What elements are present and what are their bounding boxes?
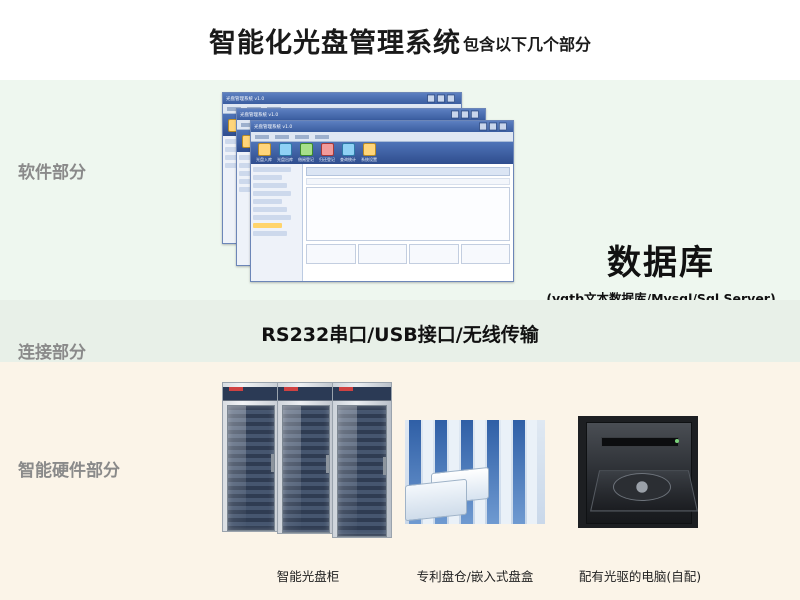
image-smart-disc-cabinet bbox=[222, 382, 394, 540]
cabinet-indicator bbox=[284, 387, 298, 391]
panel-cell bbox=[306, 244, 356, 264]
window-toolbar: 光盘入库 光盘出库 借阅登记 归还登记 bbox=[251, 142, 513, 164]
window-controls bbox=[451, 110, 479, 118]
toolbar-button-settings[interactable]: 系统设置 bbox=[361, 143, 377, 163]
window-titlebar: 光盘管理系统 v1.0 bbox=[251, 121, 513, 132]
window-titlebar: 光盘管理系统 v1.0 bbox=[237, 109, 485, 120]
toolbar-button-return[interactable]: 归还登记 bbox=[319, 143, 335, 163]
title-sub-text: 包含以下几个部分 bbox=[463, 31, 591, 55]
toolbar-label: 光盘出库 bbox=[277, 157, 293, 163]
toolbar-label: 归还登记 bbox=[319, 157, 335, 163]
panel-cell bbox=[409, 244, 459, 264]
toolbar-button-borrow[interactable]: 借阅登记 bbox=[298, 143, 314, 163]
database-title: 数据库 bbox=[530, 235, 792, 284]
image-disc-bin bbox=[405, 420, 545, 524]
window-sidebar bbox=[251, 164, 303, 281]
toolbar-label: 光盘入库 bbox=[256, 157, 272, 163]
caption-hardware-bin: 专利盘仓/嵌入式盘盒 bbox=[390, 566, 560, 585]
cabinet-left bbox=[222, 382, 280, 532]
minimize-icon[interactable] bbox=[427, 94, 435, 102]
toolbar-button-query[interactable]: 查询统计 bbox=[340, 143, 356, 163]
window-controls bbox=[479, 122, 507, 130]
cabinet-middle bbox=[277, 382, 335, 534]
title-main-text: 智能化光盘管理系统 bbox=[209, 21, 461, 60]
window-title-text: 光盘管理系统 v1.0 bbox=[240, 111, 278, 117]
window-titlebar: 光盘管理系统 v1.0 bbox=[223, 93, 461, 104]
cabinet-indicator bbox=[229, 387, 243, 391]
caption-hardware-cabinet: 智能光盘柜 bbox=[222, 566, 394, 585]
menu-item[interactable] bbox=[315, 135, 329, 139]
menu-item[interactable] bbox=[255, 135, 269, 139]
app-window-front: 光盘管理系统 v1.0 光盘入库 bbox=[250, 120, 514, 282]
close-icon[interactable] bbox=[447, 94, 455, 102]
window-title-text: 光盘管理系统 v1.0 bbox=[254, 123, 292, 129]
optical-disc bbox=[613, 473, 671, 501]
toolbar-label: 查询统计 bbox=[340, 157, 356, 163]
cabinet-right bbox=[332, 382, 392, 538]
page-title: 智能化光盘管理系统 包含以下几个部分 bbox=[0, 0, 800, 80]
maximize-icon[interactable] bbox=[489, 122, 497, 130]
menu-item[interactable] bbox=[295, 135, 309, 139]
label-hardware-section: 智能硬件部分 bbox=[18, 456, 120, 481]
toolbar-label: 系统设置 bbox=[361, 157, 377, 163]
band-software: 光盘管理系统 v1.0 bbox=[0, 80, 800, 300]
cabinet-indicator bbox=[339, 387, 353, 391]
connect-text: RS232串口/USB接口/无线传输 bbox=[0, 320, 800, 347]
close-icon[interactable] bbox=[499, 122, 507, 130]
window-menubar bbox=[251, 132, 513, 142]
close-icon[interactable] bbox=[471, 110, 479, 118]
window-body bbox=[251, 164, 513, 281]
window-title-text: 光盘管理系统 v1.0 bbox=[226, 95, 264, 101]
window-content bbox=[303, 164, 513, 281]
menu-item[interactable] bbox=[275, 135, 289, 139]
image-pc-with-optical-drive bbox=[578, 416, 698, 528]
window-controls bbox=[427, 94, 455, 102]
toolbar-button-disc-in[interactable]: 光盘入库 bbox=[256, 143, 272, 163]
software-screenshots-group: 光盘管理系统 v1.0 bbox=[222, 92, 522, 282]
minimize-icon[interactable] bbox=[451, 110, 459, 118]
toolbar-button-disc-out[interactable]: 光盘出库 bbox=[277, 143, 293, 163]
maximize-icon[interactable] bbox=[437, 94, 445, 102]
panel-cell bbox=[358, 244, 408, 264]
label-software-section: 软件部分 bbox=[18, 158, 86, 183]
toolbar-label: 借阅登记 bbox=[298, 157, 314, 163]
diagram-page: 智能化光盘管理系统 包含以下几个部分 光盘管理系统 v1.0 bbox=[0, 0, 800, 600]
panel-cell bbox=[461, 244, 511, 264]
maximize-icon[interactable] bbox=[461, 110, 469, 118]
database-block: 数据库 (ygtb文本数据库/Mysql/Sql Server) bbox=[530, 235, 792, 307]
caption-hardware-pc: 配有光驱的电脑(自配) bbox=[560, 566, 720, 585]
minimize-icon[interactable] bbox=[479, 122, 487, 130]
